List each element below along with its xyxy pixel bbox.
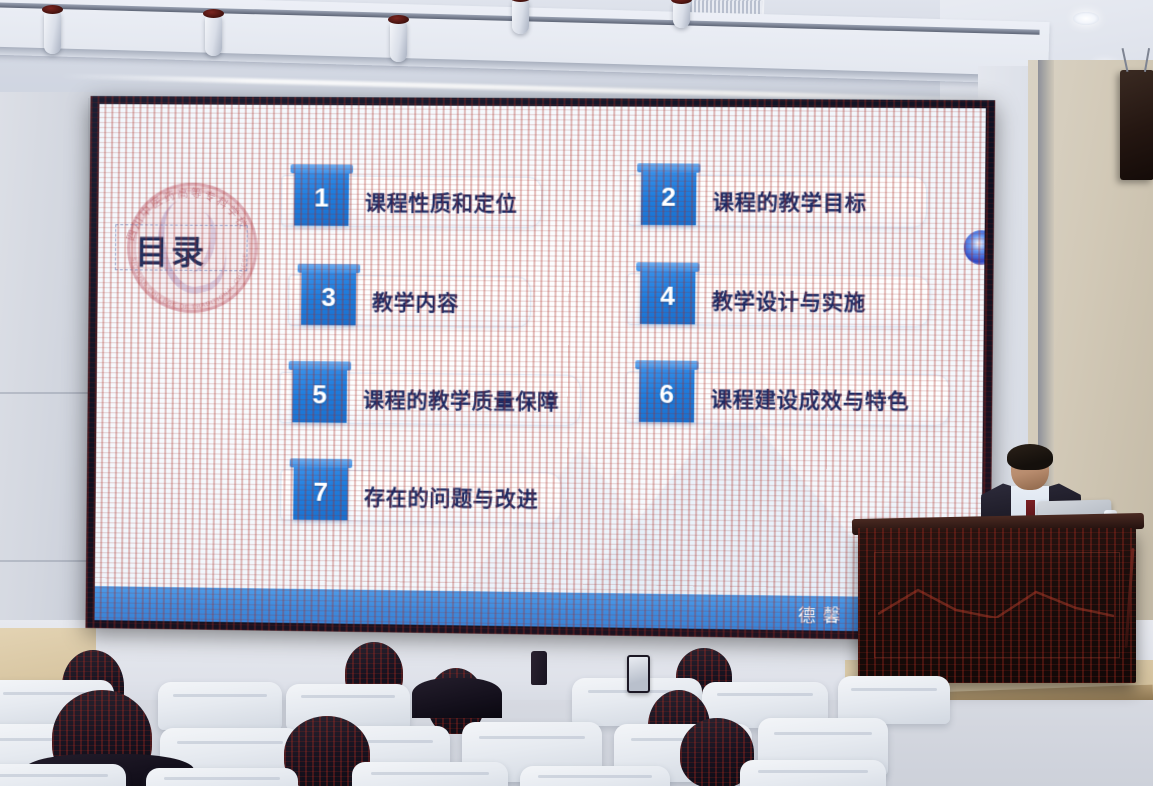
spotlight-icon [205, 16, 222, 56]
lecture-hall-screenshot: 四川中医药高等专科学校 SICHUAN COLLEGE OF TRADITION… [0, 0, 1153, 786]
toc-label: 课程的教学质量保障 [363, 383, 559, 415]
downlight-icon [1073, 12, 1099, 25]
toc-label: 存在的问题与改进 [364, 481, 539, 513]
podium [858, 528, 1136, 683]
spotlight-icon [44, 12, 61, 54]
toc-number-badge: 6 [639, 366, 695, 422]
audience-shoulders [412, 678, 502, 718]
toc-seal-block: 四川中医药高等专科学校 SICHUAN COLLEGE OF TRADITION… [115, 180, 277, 309]
toc-number: 6 [659, 381, 674, 407]
audience-chair [158, 682, 282, 730]
toc-number-badge: 1 [294, 170, 349, 226]
spotlight-icon [673, 2, 690, 28]
toc-item-7[interactable]: 7 存在的问题与改进 [280, 469, 562, 524]
page-title: 目录 [135, 225, 208, 274]
toc-item-6[interactable]: 6 课程建设成效与特色 [626, 371, 951, 426]
left-wall [0, 92, 97, 692]
audience-chair [352, 762, 508, 786]
toc-number: 4 [660, 283, 675, 309]
toc-number: 7 [313, 479, 328, 505]
audience-chair [146, 768, 298, 786]
audience-chair [520, 766, 670, 786]
toc-number-badge: 7 [293, 464, 348, 520]
toc-item-2[interactable]: 2 课程的教学目标 [627, 174, 927, 228]
podium-zigzag-inlay [878, 584, 1114, 618]
presenter-hair [1007, 444, 1053, 470]
toc-number: 1 [314, 184, 329, 210]
toc-number-badge: 3 [301, 269, 356, 325]
water-bottle-icon [531, 651, 547, 685]
slide-canvas: 四川中医药高等专科学校 SICHUAN COLLEGE OF TRADITION… [95, 104, 986, 633]
wall-speaker-icon [1120, 70, 1153, 180]
toc-number: 2 [661, 184, 676, 210]
toc-grid: 1 课程性质和定位 2 课程的教学目标 3 [278, 175, 975, 565]
toc-row: 3 教学内容 4 教学设计与实施 [280, 271, 974, 373]
audience-chair [0, 764, 126, 786]
toc-item-1[interactable]: 1 课程性质和定位 [281, 175, 542, 228]
toc-item-4[interactable]: 4 教学设计与实施 [627, 273, 931, 327]
toc-row: 1 课程性质和定位 2 课程的教学目标 [280, 175, 974, 276]
toc-row: 5 课程的教学质量保障 6 课程建设成效与特色 [279, 366, 973, 469]
toc-number-badge: 2 [641, 169, 697, 225]
toc-label: 教学内容 [372, 286, 459, 317]
toc-item-5[interactable]: 5 课程的教学质量保障 [279, 372, 581, 426]
audience-chair [740, 760, 886, 786]
audience-chair [838, 676, 950, 724]
phone-icon[interactable] [627, 655, 650, 693]
toc-number: 3 [321, 284, 336, 310]
spotlight-icon [512, 0, 529, 34]
toc-number-badge: 5 [292, 366, 347, 422]
toc-number: 5 [312, 381, 327, 407]
spotlight-icon [390, 22, 407, 62]
toc-label: 课程性质和定位 [365, 186, 518, 217]
toc-item-3[interactable]: 3 教学内容 [288, 275, 531, 328]
toc-number-badge: 4 [640, 268, 696, 324]
toc-label: 课程建设成效与特色 [710, 383, 909, 415]
toc-label: 教学设计与实施 [711, 285, 866, 317]
toc-label: 课程的教学目标 [712, 185, 867, 216]
